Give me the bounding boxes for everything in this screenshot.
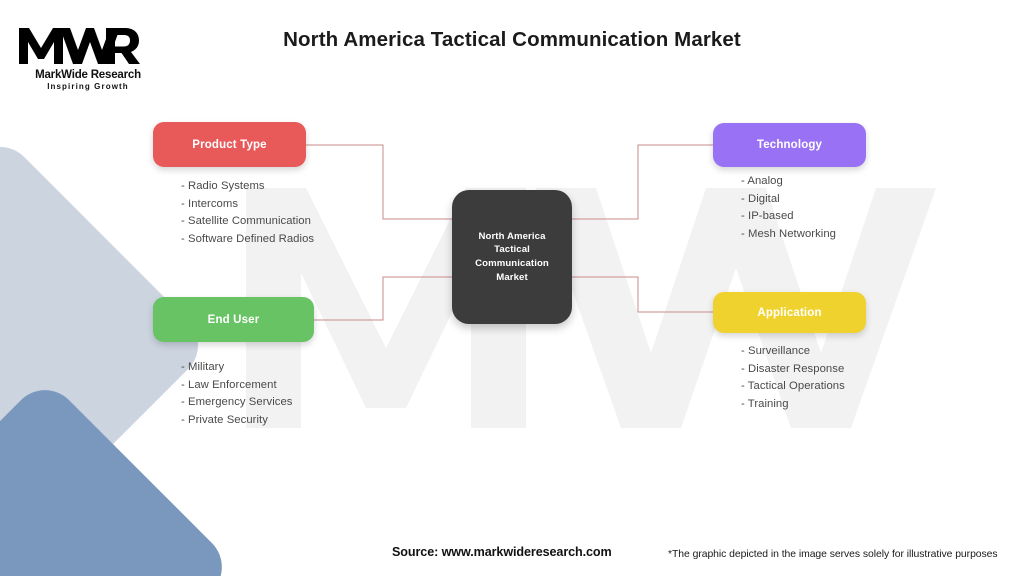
list-item: - Disaster Response bbox=[741, 361, 845, 379]
branch-node-end-user[interactable]: End User bbox=[153, 297, 314, 342]
connector-product-type bbox=[306, 145, 452, 219]
branch-items-application: - Surveillance - Disaster Response - Tac… bbox=[741, 343, 845, 413]
center-node-line: Tactical bbox=[494, 243, 530, 257]
list-item: - Surveillance bbox=[741, 343, 845, 361]
list-item: - Digital bbox=[741, 191, 836, 209]
center-node-line: North America bbox=[478, 230, 545, 244]
list-item: - Emergency Services bbox=[181, 394, 293, 412]
list-item: - Military bbox=[181, 359, 293, 377]
branch-node-application[interactable]: Application bbox=[713, 292, 866, 333]
branch-items-technology: - Analog - Digital - IP-based - Mesh Net… bbox=[741, 173, 836, 243]
footer-source[interactable]: Source: www.markwideresearch.com bbox=[392, 545, 612, 559]
list-item: - Radio Systems bbox=[181, 178, 314, 196]
branch-items-product-type: - Radio Systems - Intercoms - Satellite … bbox=[181, 178, 314, 248]
list-item: - Software Defined Radios bbox=[181, 231, 314, 249]
center-node: North America Tactical Communication Mar… bbox=[452, 190, 572, 324]
list-item: - Analog bbox=[741, 173, 836, 191]
footer-disclaimer: *The graphic depicted in the image serve… bbox=[668, 549, 998, 560]
list-item: - Intercoms bbox=[181, 196, 314, 214]
list-item: - Law Enforcement bbox=[181, 377, 293, 395]
branch-items-end-user: - Military - Law Enforcement - Emergency… bbox=[181, 359, 293, 429]
connector-end-user bbox=[314, 277, 452, 320]
branch-label-application: Application bbox=[757, 307, 821, 319]
list-item: - Training bbox=[741, 396, 845, 414]
list-item: - Mesh Networking bbox=[741, 226, 836, 244]
branch-node-product-type[interactable]: Product Type bbox=[153, 122, 306, 167]
list-item: - IP-based bbox=[741, 208, 836, 226]
infographic-canvas: MarkWide Research Inspiring Growth North… bbox=[0, 0, 1024, 576]
list-item: - Satellite Communication bbox=[181, 213, 314, 231]
center-node-line: Market bbox=[496, 271, 528, 285]
list-item: - Tactical Operations bbox=[741, 378, 845, 396]
branch-label-product-type: Product Type bbox=[192, 139, 266, 151]
list-item: - Private Security bbox=[181, 412, 293, 430]
branch-label-technology: Technology bbox=[757, 139, 822, 151]
branch-label-end-user: End User bbox=[208, 314, 260, 326]
center-node-line: Communication bbox=[475, 257, 549, 271]
branch-node-technology[interactable]: Technology bbox=[713, 123, 866, 167]
